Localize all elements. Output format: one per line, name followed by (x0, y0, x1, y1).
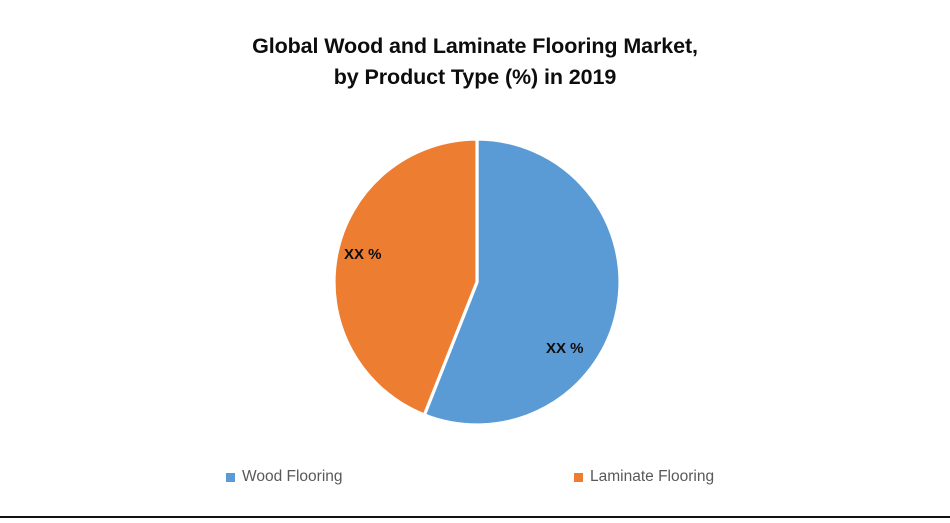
pie-chart-plot-area (330, 135, 624, 429)
legend-item-laminate-flooring[interactable]: Laminate Flooring (574, 465, 714, 489)
data-label-wood-flooring: XX % (546, 340, 584, 357)
chart-title: Global Wood and Laminate Flooring Market… (0, 31, 950, 93)
figure-bottom-rule (0, 516, 950, 518)
chart-title-line-2: by Product Type (%) in 2019 (334, 65, 616, 89)
legend-item-label: Laminate Flooring (590, 465, 714, 489)
chart-title-line-1: Global Wood and Laminate Flooring Market… (252, 34, 698, 58)
data-label-laminate-flooring: XX % (344, 246, 382, 263)
legend-item-label: Wood Flooring (242, 465, 343, 489)
chart-figure: Global Wood and Laminate Flooring Market… (0, 0, 950, 523)
square-marker-icon (574, 473, 583, 482)
square-marker-icon (226, 473, 235, 482)
legend-item-wood-flooring[interactable]: Wood Flooring (226, 465, 343, 489)
pie-chart-svg (330, 135, 624, 429)
chart-legend: Wood Flooring Laminate Flooring (0, 465, 950, 489)
